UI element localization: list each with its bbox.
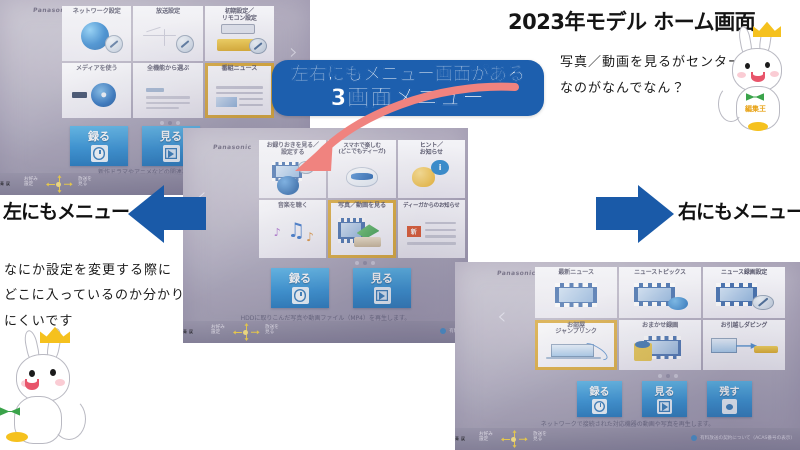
brand-logo-right: Panasonic: [497, 270, 536, 277]
rabbit-head: [16, 354, 70, 402]
page-dots-center: [355, 261, 375, 265]
button-back-hint: 戻: [6, 181, 12, 187]
auto-rec-icon: [619, 329, 701, 370]
callout-three-screen-menu: 左右にもメニュー画面がある 3画面メニュー: [272, 60, 544, 116]
news-topics-icon: [619, 277, 701, 318]
rabbit-crown-icon: [40, 326, 70, 343]
rabbit-eye-right: [765, 62, 770, 68]
rabbit-arm: [52, 398, 86, 440]
page-dots-right: [658, 374, 678, 378]
rabbit-mascot-top: 編集王: [720, 24, 800, 144]
rabbit-cheek-left: [737, 72, 746, 78]
info-icon: i: [431, 160, 449, 175]
tile-program-news[interactable]: 番組ニュース: [205, 63, 274, 118]
hint-right: 放送を 見る: [265, 326, 279, 336]
arrow-left-menu: [128, 185, 206, 243]
tile-label: 放送設定: [156, 9, 180, 16]
rabbit-eye-right: [50, 369, 56, 376]
callout-line-1: 左右にもメニュー画面がある: [291, 64, 525, 85]
usb-disc-icon: [62, 73, 131, 118]
smartphone-icon: [328, 156, 395, 199]
music-note-icon: ♫ ♪ ♪: [259, 210, 326, 258]
tile-smartphone-dimora[interactable]: スマホで楽しむ (どこでもディーガ): [328, 140, 395, 198]
tv-screen-right: Panasonic 最新ニュース ニューストピックス: [455, 262, 800, 450]
film-gear-icon: [259, 156, 326, 198]
tile-label: 写真／動画を見る: [338, 203, 386, 210]
screenshot-root: Panasonic ネットワーク設定 放送設定 初期設定／: [0, 0, 800, 450]
tile-label: 初期設定／ リモコン設定: [222, 9, 257, 22]
new-notice-icon: 新: [398, 209, 465, 258]
play-icon: [657, 399, 672, 414]
news-film-icon: [535, 277, 617, 318]
hint-right: 放送を 見る: [533, 433, 547, 443]
rabbit-arm: [718, 86, 744, 122]
new-badge: 新: [407, 226, 420, 238]
news-list-icon: [205, 73, 274, 118]
action-row-left: 録る 見る: [70, 126, 200, 166]
news-rec-gear-icon: [703, 277, 785, 318]
arrow-head: [638, 185, 674, 243]
page-title: 2023年モデル ホーム画面: [508, 6, 755, 36]
status-bar-right: お好み 設定 青 戻 放送を 見る 有料放送の契約について（ACAS番号の表示）: [455, 428, 800, 450]
screen-caption-right: ネットワークで接続された対応機器の動画や写真を再生します。: [455, 419, 800, 428]
tile-label: ニュース録画設定: [721, 270, 767, 277]
dubbing-icon: [703, 329, 785, 370]
tile-room-jump-link[interactable]: お部屋 ジャンプリンク: [535, 320, 617, 371]
rabbit-eye-left: [29, 370, 35, 377]
photo-film-icon: [328, 210, 395, 258]
callout-line-2: 3画面メニュー: [331, 86, 485, 112]
dpad-icon: [44, 176, 72, 192]
rabbit-cheek-right: [770, 71, 779, 77]
tile-label: 全機能から選ぶ: [147, 66, 189, 73]
action-watch[interactable]: 見る: [642, 381, 687, 417]
rabbit-foot: [748, 122, 768, 131]
arrow-left-label: 左にもメニュー: [3, 197, 129, 224]
action-record[interactable]: 録る: [70, 126, 128, 166]
rabbit-badge-label: 編集王: [745, 104, 766, 114]
handwritten-note-top-right: 写真／動画を見るがセンター なのがなんでなん？: [560, 50, 742, 102]
clock-icon: [292, 287, 309, 304]
tile-grid-center: お録りおきを見る／ 設定する スマホで楽しむ (どこでもディーガ) ヒント／ お…: [259, 140, 465, 258]
list-chart-icon: [133, 73, 202, 118]
tile-listen-music[interactable]: 音楽を聴く ♫ ♪ ♪: [259, 200, 326, 258]
blue-dot-icon: [440, 328, 446, 334]
tile-all-functions[interactable]: 全機能から選ぶ: [133, 63, 202, 118]
page-dots-left: [160, 121, 180, 125]
tile-initial-remote-settings[interactable]: 初期設定／ リモコン設定: [205, 6, 274, 61]
action-row-right: 録る 見る 残す: [577, 381, 752, 417]
tile-grid-right: 最新ニュース ニューストピックス ニュース録画設定: [535, 267, 785, 370]
tile-label: お録りおきを見る／ 設定する: [267, 143, 319, 156]
rabbit-mascot-bottom: [2, 320, 92, 445]
tile-diga-notice[interactable]: ディーガからのお知らせ 新: [398, 200, 465, 258]
button-back-hint: 戻: [189, 329, 195, 335]
clock-icon: [592, 399, 607, 414]
play-icon: [374, 287, 391, 304]
tile-news-topics[interactable]: ニューストピックス: [619, 267, 701, 318]
action-row-center: 録る 見る: [271, 268, 411, 308]
footnote-right: 有料放送の契約について（ACAS番号の表示）: [691, 435, 795, 441]
action-label: 録る: [289, 270, 311, 286]
arrow-shaft: [596, 197, 640, 230]
tile-label: スマホで楽しむ (どこでもディーガ): [338, 143, 385, 156]
tile-latest-news[interactable]: 最新ニュース: [535, 267, 617, 318]
bulb-info-icon: i: [398, 156, 465, 198]
rabbit-eye-left: [745, 63, 750, 69]
action-label: 残す: [720, 383, 740, 398]
brand-logo-center: Panasonic: [213, 144, 252, 151]
tile-move-dubbing[interactable]: お引越しダビング: [703, 320, 785, 371]
tile-label: お引越しダビング: [721, 323, 767, 330]
status-bar-center: お好み 設定 青 戻 放送を 見る 有料放: [183, 321, 468, 343]
rabbit-mouth: [751, 72, 765, 82]
button-back-hint: 戻: [461, 436, 467, 442]
tile-hints-notices[interactable]: ヒント／ お知らせ i: [398, 140, 465, 198]
arrow-head: [128, 185, 164, 243]
tile-news-recording-settings[interactable]: ニュース録画設定: [703, 267, 785, 318]
hand-disc-icon: [722, 399, 737, 414]
action-label: 録る: [590, 383, 610, 398]
mask-bottom-mid: [183, 343, 455, 450]
globe-gear-icon: [62, 16, 131, 61]
tile-broadcast-settings[interactable]: 放送設定: [133, 6, 202, 61]
hint-left: お好み 設定: [211, 326, 225, 336]
clock-icon: [91, 145, 108, 162]
action-label: 見る: [655, 383, 675, 398]
rabbit-crown-icon: [753, 21, 781, 37]
rabbit-cheek-right: [55, 379, 65, 386]
tile-label: ヒント／ お知らせ: [420, 143, 443, 156]
action-watch[interactable]: 見る: [353, 268, 411, 308]
room-link-icon: [535, 336, 617, 370]
rabbit-mouth: [25, 379, 39, 390]
action-label: 録る: [88, 128, 110, 144]
remote-gear-icon: [205, 22, 274, 61]
tile-auto-recording[interactable]: おまかせ録画: [619, 320, 701, 371]
action-keep[interactable]: 残す: [707, 381, 752, 417]
arrow-shaft: [162, 197, 206, 230]
tile-label: 最新ニュース: [558, 270, 594, 277]
tile-label: ネットワーク設定: [73, 9, 121, 16]
chevron-left-icon-right-screen[interactable]: ‹: [497, 302, 507, 330]
tv-screen-center: Panasonic お録りおきを見る／ 設定する スマホで楽しむ (どこでもディ…: [183, 128, 468, 343]
tile-label: おまかせ録画: [642, 323, 678, 330]
tile-label: お部屋 ジャンプリンク: [555, 323, 596, 337]
rabbit-foot: [6, 432, 28, 442]
hint-left: お好み 設定: [24, 178, 38, 188]
arrow-right-label: 右にもメニュー: [678, 197, 800, 224]
tile-label: ニューストピックス: [634, 270, 686, 277]
action-label: 見る: [371, 270, 393, 286]
play-icon: [163, 145, 180, 162]
arrow-right-menu: [596, 185, 674, 243]
action-record[interactable]: 録る: [271, 268, 329, 308]
tile-label: 音楽を聴く: [278, 203, 308, 210]
tile-view-recordings[interactable]: お録りおきを見る／ 設定する: [259, 140, 326, 198]
action-label: 見る: [160, 128, 182, 144]
dpad-icon: [231, 324, 259, 340]
dpad-icon: [499, 431, 527, 447]
blue-dot-icon: [691, 435, 697, 441]
hint-left: お好み 設定: [479, 433, 493, 443]
tile-label: 番組ニュース: [222, 66, 258, 73]
action-record[interactable]: 録る: [577, 381, 622, 417]
antenna-gear-icon: [133, 16, 202, 61]
tile-label: メディアを使う: [76, 66, 117, 73]
tile-network-settings[interactable]: ネットワーク設定: [62, 6, 131, 61]
tile-use-media[interactable]: メディアを使う: [62, 63, 131, 118]
tile-view-photos-videos[interactable]: 写真／動画を見る: [328, 200, 395, 258]
hint-right: 放送を 見る: [78, 178, 92, 188]
tile-grid-left: ネットワーク設定 放送設定 初期設定／ リモコン設定: [62, 6, 274, 118]
